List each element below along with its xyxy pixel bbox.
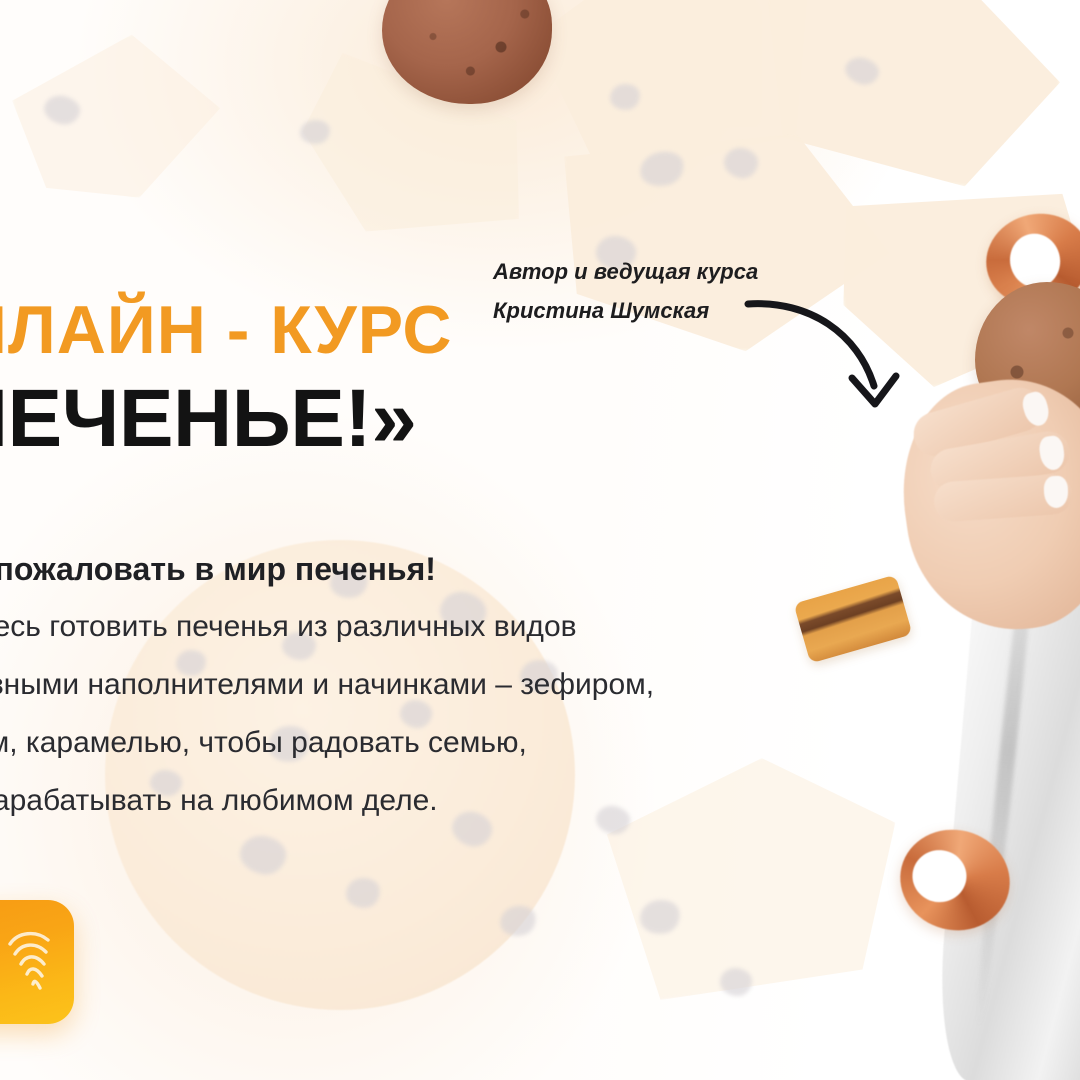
curved-arrow-down-icon [740,286,910,421]
headline-block: ОНЛАЙН - КУРС «ПЕЧЕНЬЕ!» [0,296,464,460]
body-line: теста с разными наполнителями и начинкам… [0,656,550,714]
banner-canvas: ОНЛАЙН - КУРС «ПЕЧЕНЬЕ!» Добро пожаловат… [0,0,1080,1080]
headline-line-title: «ПЕЧЕНЬЕ!» [0,378,464,460]
cta-button[interactable] [0,900,74,1024]
fingerprint-icon [2,930,58,994]
body-copy: Вы научитесь готовить печенья из различн… [0,598,550,830]
lead-text: Добро пожаловать в мир печенья! [0,551,524,588]
body-line: друзей и зарабатывать на любимом деле. [0,772,550,830]
headline-line-course-type: ОНЛАЙН - КУРС [0,296,464,364]
body-line: Вы научитесь готовить печенья из различн… [0,598,550,656]
body-line: шоколадом, карамелью, чтобы радовать сем… [0,714,550,772]
